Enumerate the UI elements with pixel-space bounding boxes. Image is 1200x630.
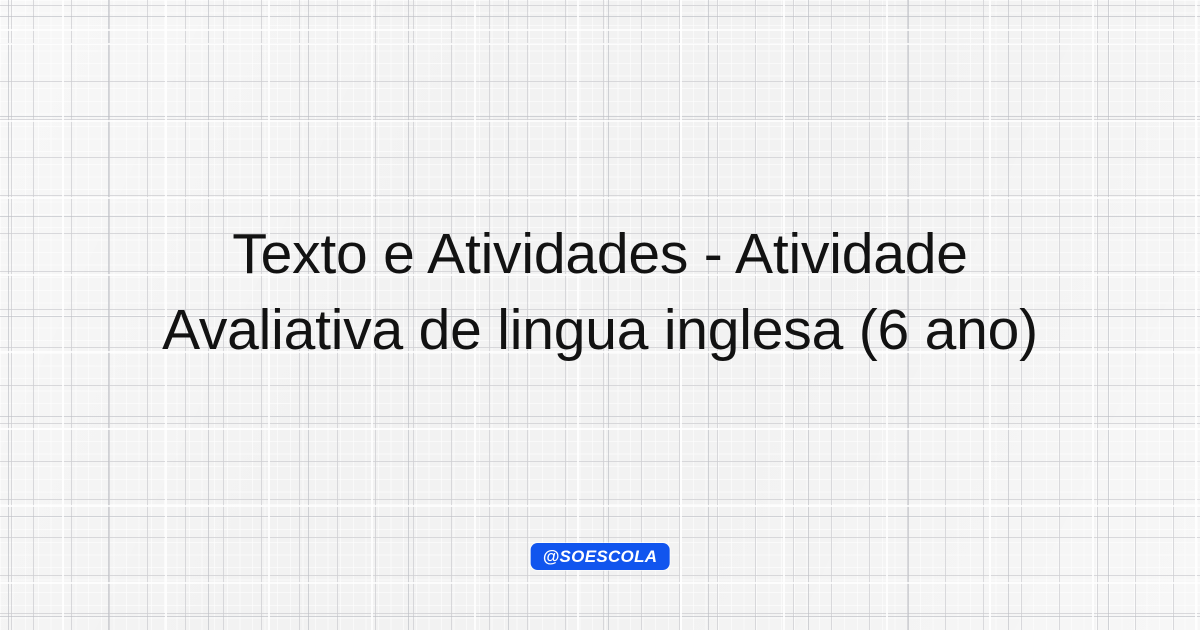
preview-card: Texto e Atividades - Atividade Avaliativ… xyxy=(0,0,1200,630)
title-line-2: Avaliativa de lingua inglesa (6 ano) xyxy=(30,292,1170,368)
brand-badge-label: @SOESCOLA xyxy=(543,548,658,565)
title-line-1: Texto e Atividades - Atividade xyxy=(30,216,1170,292)
page-title: Texto e Atividades - Atividade Avaliativ… xyxy=(30,216,1170,368)
brand-badge[interactable]: @SOESCOLA xyxy=(531,543,670,570)
